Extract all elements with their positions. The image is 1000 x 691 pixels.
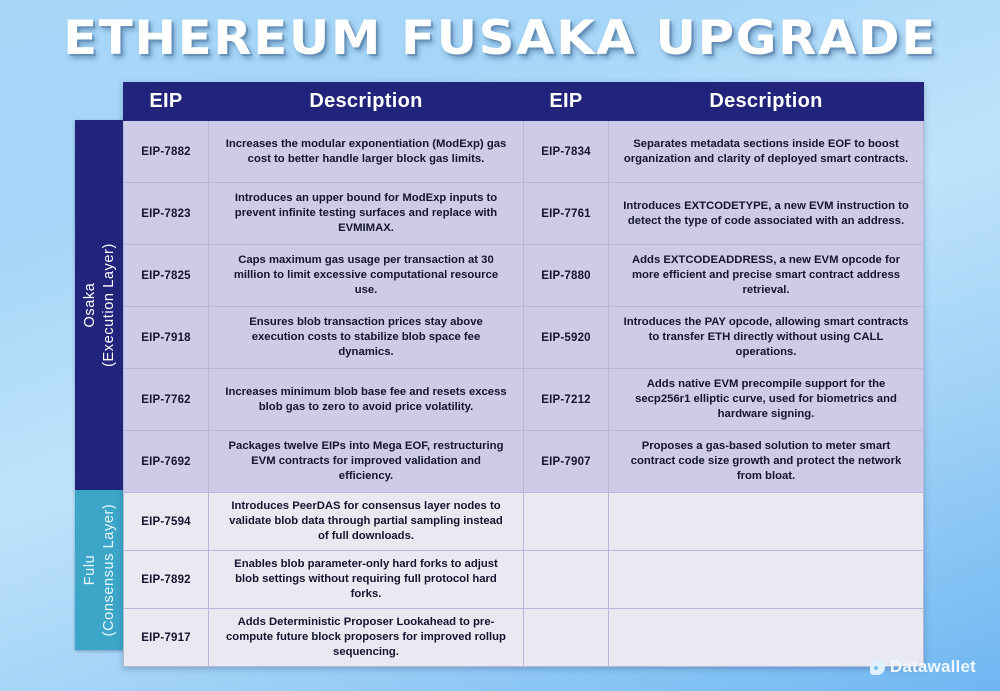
table-row: EIP-7918Ensures blob transaction prices … — [124, 307, 924, 369]
layer-band-fulu-label: Fulu (Consensus Layer) — [81, 504, 119, 637]
eip-id-cell: EIP-7212 — [524, 369, 609, 431]
layer-band-osaka-line1: Osaka — [82, 283, 98, 328]
eip-description-cell: Introduces PeerDAS for consensus layer n… — [209, 493, 524, 551]
table-row: EIP-7892Enables blob parameter-only hard… — [124, 551, 924, 609]
eip-description-cell: Ensures blob transaction prices stay abo… — [209, 307, 524, 369]
layer-band-group: Osaka (Execution Layer) Fulu (Consensus … — [75, 120, 124, 650]
eip-description-cell: Adds Deterministic Proposer Lookahead to… — [209, 609, 524, 667]
column-header-eip-left: EIP — [124, 83, 209, 121]
eip-description-cell: Increases minimum blob base fee and rese… — [209, 369, 524, 431]
footer-brand-label: Datawallet — [890, 657, 976, 677]
eip-description-cell: Packages twelve EIPs into Mega EOF, rest… — [209, 431, 524, 493]
eip-description-cell: Adds EXTCODEADDRESS, a new EVM opcode fo… — [609, 245, 924, 307]
eip-id-cell — [524, 493, 609, 551]
eip-description-cell — [609, 551, 924, 609]
eip-description-cell: Introduces the PAY opcode, allowing smar… — [609, 307, 924, 369]
table-row: EIP-7823Introduces an upper bound for Mo… — [124, 183, 924, 245]
table-header: EIP Description EIP Description — [124, 83, 924, 121]
eip-id-cell: EIP-7825 — [124, 245, 209, 307]
eip-description-cell: Introduces an upper bound for ModExp inp… — [209, 183, 524, 245]
eip-id-cell: EIP-7823 — [124, 183, 209, 245]
column-header-description-right: Description — [609, 83, 924, 121]
eip-description-cell: Caps maximum gas usage per transaction a… — [209, 245, 524, 307]
table-body: EIP-7882Increases the modular exponentia… — [124, 121, 924, 667]
eip-id-cell: EIP-7918 — [124, 307, 209, 369]
eip-description-cell: Separates metadata sections inside EOF t… — [609, 121, 924, 183]
table-header-row: EIP Description EIP Description — [124, 83, 924, 121]
eip-description-cell: Enables blob parameter-only hard forks t… — [209, 551, 524, 609]
eip-description-cell: Proposes a gas-based solution to meter s… — [609, 431, 924, 493]
table-row: EIP-7692Packages twelve EIPs into Mega E… — [124, 431, 924, 493]
eip-id-cell: EIP-7594 — [124, 493, 209, 551]
datawallet-droplet-icon — [870, 660, 885, 675]
eip-id-cell: EIP-7692 — [124, 431, 209, 493]
table-row: EIP-7762Increases minimum blob base fee … — [124, 369, 924, 431]
table-row: EIP-7594Introduces PeerDAS for consensus… — [124, 493, 924, 551]
eip-id-cell: EIP-7762 — [124, 369, 209, 431]
eip-id-cell: EIP-7907 — [524, 431, 609, 493]
eip-description-cell: Adds native EVM precompile support for t… — [609, 369, 924, 431]
eip-id-cell: EIP-7761 — [524, 183, 609, 245]
layer-band-osaka-line2: (Execution Layer) — [101, 243, 117, 367]
eip-description-cell: Increases the modular exponentiation (Mo… — [209, 121, 524, 183]
eip-id-cell: EIP-5920 — [524, 307, 609, 369]
column-header-description-left: Description — [209, 83, 524, 121]
eip-id-cell: EIP-7880 — [524, 245, 609, 307]
table-row: EIP-7917Adds Deterministic Proposer Look… — [124, 609, 924, 667]
footer-brand: Datawallet — [870, 657, 976, 677]
layer-band-fulu-line2: (Consensus Layer) — [101, 504, 117, 637]
eip-id-cell: EIP-7882 — [124, 121, 209, 183]
eip-id-cell: EIP-7917 — [124, 609, 209, 667]
table-row: EIP-7882Increases the modular exponentia… — [124, 121, 924, 183]
layer-band-fulu: Fulu (Consensus Layer) — [75, 490, 124, 650]
page-title: ETHEREUM FUSAKA UPGRADE — [0, 8, 1000, 70]
eip-description-cell — [609, 493, 924, 551]
eip-id-cell — [524, 551, 609, 609]
eip-id-cell: EIP-7892 — [124, 551, 209, 609]
layer-band-fulu-line1: Fulu — [82, 555, 98, 586]
column-header-eip-right: EIP — [524, 83, 609, 121]
eip-id-cell: EIP-7834 — [524, 121, 609, 183]
eip-description-cell: Introduces EXTCODETYPE, a new EVM instru… — [609, 183, 924, 245]
layer-band-osaka-label: Osaka (Execution Layer) — [81, 243, 119, 367]
table-row: EIP-7825Caps maximum gas usage per trans… — [124, 245, 924, 307]
eip-id-cell — [524, 609, 609, 667]
eip-table: EIP Description EIP Description EIP-7882… — [123, 82, 924, 667]
layer-band-osaka: Osaka (Execution Layer) — [75, 120, 124, 490]
